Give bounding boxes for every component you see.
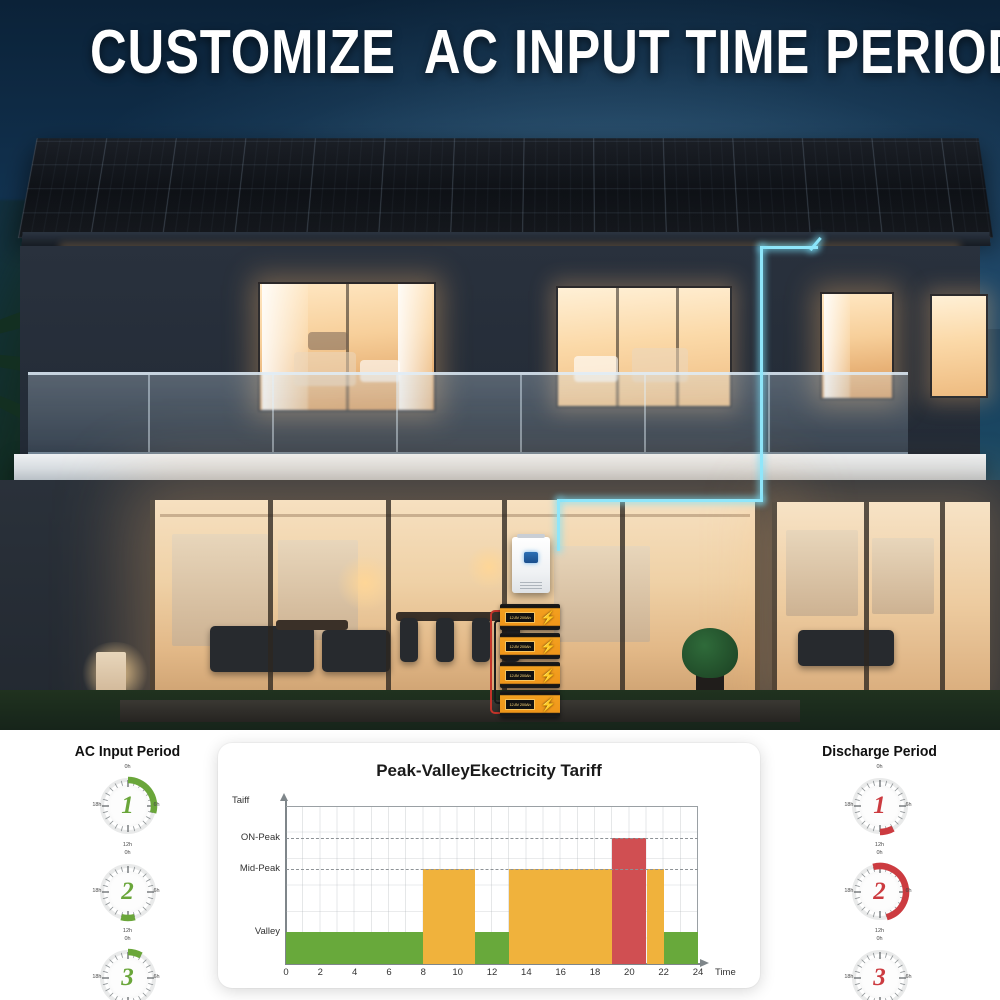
x-tick-label: 6 [379,967,399,978]
cable-segment-vertical [760,246,763,502]
dial-tick-label-t0: 0h [118,936,138,942]
level-dashed-line [286,838,698,839]
battery-module: 12.8V 200Ah ⚡ [500,633,560,659]
x-tick-label: 18 [585,967,605,978]
battery-module: 12.8V 200Ah ⚡ [500,662,560,688]
cable-segment-to-inverter [557,499,560,551]
x-tick-label: 8 [413,967,433,978]
y-axis-arrow-icon [280,793,288,801]
lightning-bolt-icon: ⚡ [540,668,556,683]
hybrid-inverter [512,537,550,593]
battery-module: 12.8V 200Ah ⚡ [500,691,560,717]
y-tick-label: Mid-Peak [218,863,280,874]
tariff-bar [612,838,646,964]
dial-tick-label-t6: 6h [154,888,170,894]
hero-photo: 12.8V 200Ah ⚡ 12.8V 200Ah ⚡ 12.8V 200Ah … [0,0,1000,730]
dial-number: 3 [844,942,916,1000]
lightning-bolt-icon: ⚡ [540,610,556,625]
x-tick-label: 12 [482,967,502,978]
plot-area [286,806,698,964]
discharge-period-heading: Discharge Period [789,743,970,760]
solar-panel-grid [18,138,993,238]
x-tick-label: 4 [345,967,365,978]
dial-tick-label-t18: 18h [86,802,102,808]
dial-tick-label-t0: 0h [118,850,138,856]
lightning-bolt-icon: ⚡ [540,697,556,712]
potted-plant [682,628,738,678]
x-tick-label: 20 [619,967,639,978]
dial-tick-label-t0: 0h [870,850,890,856]
dial-tick-label-t12: 12h [118,842,138,848]
armchair [322,630,390,672]
battery-stack: 12.8V 200Ah ⚡ 12.8V 200Ah ⚡ 12.8V 200Ah … [500,604,560,718]
y-axis-label: Taiff [232,795,249,806]
x-tick-label: 0 [276,967,296,978]
living-room-interior [150,500,760,715]
tariff-chart-card: Peak-ValleyEkectricity Tariff Taiff Time… [218,743,760,988]
time-dial[interactable]: 20h6h12h18h [844,856,916,928]
dial-tick-label-t12: 12h [118,928,138,934]
tariff-bar [286,932,423,964]
dial-tick-label-t6: 6h [906,974,922,980]
ac-input-period-heading: AC Input Period [37,743,218,760]
tariff-bar [475,932,509,964]
battery-label: 12.8V 200Ah [505,612,535,623]
solar-panel-array [18,138,993,238]
balcony-glass-rail [28,372,908,454]
y-tick-label: Valley [218,926,280,937]
dial-tick-label-t0: 0h [870,764,890,770]
lightning-bolt-icon: ⚡ [540,639,556,654]
walkway [120,700,800,722]
dial-tick-label-t6: 6h [154,802,170,808]
chart-title: Peak-ValleyEkectricity Tariff [218,761,760,781]
coffee-table [276,620,348,630]
bottom-panel: AC Input Period 10h6h12h18h20h6h12h18h30… [0,730,1000,1000]
time-dial[interactable]: 20h6h12h18h [92,856,164,928]
discharge-dial-list: 10h6h12h18h20h6h12h18h30h6h12h18h [782,770,977,1000]
dial-tick-label-t6: 6h [906,802,922,808]
cable-segment-bottom [560,499,762,502]
tariff-bar [647,869,664,964]
dial-tick-label-t6: 6h [906,888,922,894]
dial-tick-label-t18: 18h [838,802,854,808]
ac-input-dial-list: 10h6h12h18h20h6h12h18h30h6h12h18h [30,770,225,1000]
dial-tick-label-t12: 12h [870,928,890,934]
dial-tick-label-t18: 18h [838,888,854,894]
y-tick-label: ON-Peak [218,832,280,843]
x-tick-label: 24 [688,967,708,978]
time-dial[interactable]: 10h6h12h18h [92,770,164,842]
dial-tick-label-t0: 0h [118,764,138,770]
x-tick-label: 22 [654,967,674,978]
dial-tick-label-t0: 0h [870,936,890,942]
time-dial[interactable]: 10h6h12h18h [844,770,916,842]
battery-label: 12.8V 200Ah [505,641,535,652]
tariff-bar [509,869,612,964]
x-axis-arrow-icon [700,959,709,967]
sofa [210,626,314,672]
tariff-bar [423,869,475,964]
dial-tick-label-t18: 18h [86,888,102,894]
floor-slab [14,454,986,480]
battery-label: 12.8V 200Ah [505,670,535,681]
dial-number: 3 [92,942,164,1000]
level-dashed-line [286,869,698,870]
page-title: CUSTOMIZE AC INPUT TIME PERIOD [90,20,910,86]
time-dial[interactable]: 30h6h12h18h [844,942,916,1000]
inverter-top-cap [517,534,545,538]
tariff-bar [664,932,698,964]
battery-label: 12.8V 200Ah [505,699,535,710]
x-tick-label: 14 [516,967,536,978]
solar-roof [0,112,1000,252]
promo-infographic: 12.8V 200Ah ⚡ 12.8V 200Ah ⚡ 12.8V 200Ah … [0,0,1000,1000]
x-tick-label: 10 [448,967,468,978]
inverter-display-screen [524,552,538,563]
x-tick-label: 2 [310,967,330,978]
time-dial[interactable]: 30h6h12h18h [92,942,164,1000]
x-axis-label: Time [715,967,736,978]
cable-segment-top [760,246,818,249]
dial-tick-label-t18: 18h [86,974,102,980]
window-upper-far-right [930,294,988,398]
right-room-interior [772,502,990,708]
dial-tick-label-t12: 12h [870,842,890,848]
battery-module: 12.8V 200Ah ⚡ [500,604,560,630]
x-tick-label: 16 [551,967,571,978]
dial-tick-label-t18: 18h [838,974,854,980]
dial-tick-label-t6: 6h [154,974,170,980]
